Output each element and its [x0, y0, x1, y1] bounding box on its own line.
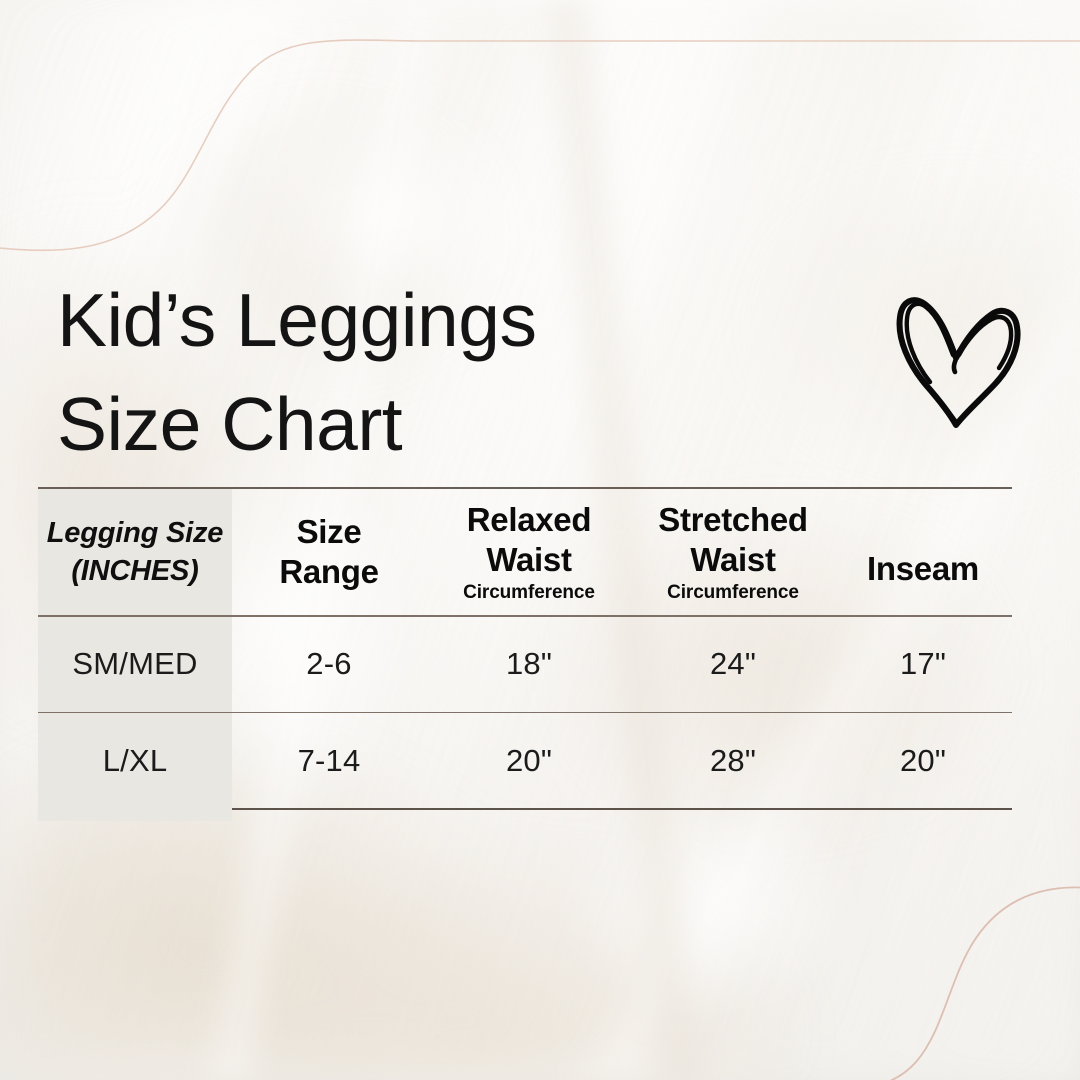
header-cell-size-range: Size Range	[232, 489, 426, 615]
cell-stretched-waist: 28"	[632, 713, 834, 808]
table-row: L/XL 7-14 20" 28" 20"	[38, 713, 1012, 808]
header-relaxed-waist-main: Relaxed	[467, 501, 591, 538]
header-stretched-waist-second: Waist	[690, 541, 775, 578]
cell-size: L/XL	[38, 713, 232, 808]
cell-size-range: 7-14	[232, 713, 426, 808]
decorative-curve-bottom-right-icon	[860, 887, 1080, 1080]
header-relaxed-waist-sub: Circumference	[463, 581, 595, 604]
size-chart-table: Legging Size (INCHES) Size Range Relaxed…	[38, 487, 1012, 810]
heart-doodle-icon	[893, 283, 1025, 433]
header-cell-relaxed-waist: Relaxed Waist Circumference	[426, 489, 632, 615]
size-chart-canvas: Kid’s Leggings Size Chart Legging Size	[0, 0, 1080, 1080]
page-title: Kid’s Leggings Size Chart	[57, 268, 697, 476]
header-legging-size-main: Legging Size	[47, 517, 223, 549]
header-inseam-main: Inseam	[867, 549, 979, 615]
header-legging-size-second: (INCHES)	[71, 555, 198, 587]
cell-inseam: 20"	[834, 713, 1012, 808]
header-size-range-second: Range	[279, 553, 378, 590]
header-cell-inseam: Inseam	[834, 489, 1012, 615]
header-stretched-waist-main: Stretched	[658, 501, 808, 538]
header-relaxed-waist-second: Waist	[486, 541, 571, 578]
cell-relaxed-waist: 18"	[426, 617, 632, 712]
cell-inseam: 17"	[834, 617, 1012, 712]
table-row: SM/MED 2-6 18" 24" 17"	[38, 617, 1012, 712]
table-header-row: Legging Size (INCHES) Size Range Relaxed…	[38, 489, 1012, 615]
cell-stretched-waist: 24"	[632, 617, 834, 712]
cell-size: SM/MED	[38, 617, 232, 712]
cell-size-range: 2-6	[232, 617, 426, 712]
decorative-curve-top-left-icon	[0, 40, 1080, 250]
header-size-range-main: Size	[297, 513, 362, 550]
header-cell-stretched-waist: Stretched Waist Circumference	[632, 489, 834, 615]
header-cell-legging-size: Legging Size (INCHES)	[38, 489, 232, 615]
cell-relaxed-waist: 20"	[426, 713, 632, 808]
header-stretched-waist-sub: Circumference	[658, 581, 808, 604]
